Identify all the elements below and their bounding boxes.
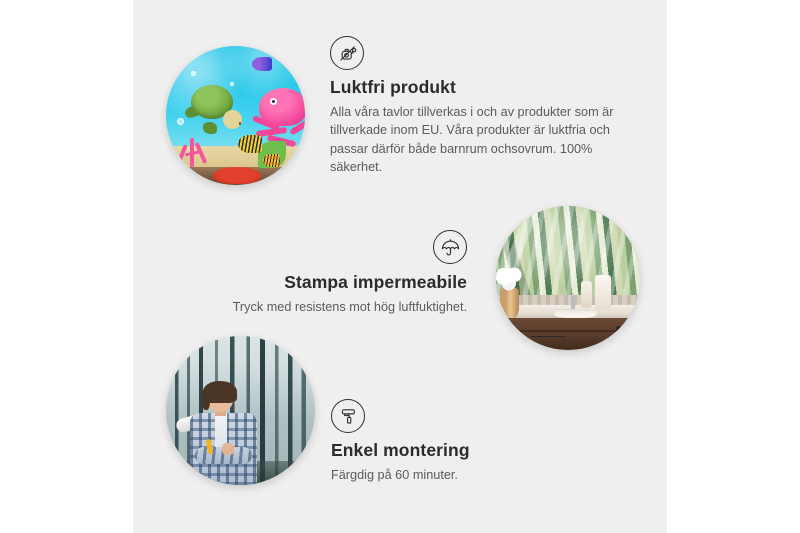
painter-forest-mural-photo [166,336,315,485]
bathroom-vanity-photo [496,206,640,350]
feature-waterproof-print: Stampa impermeabile Tryck med resistens … [170,230,467,316]
drawer-handle [531,336,565,337]
vase [500,288,519,320]
towel [581,281,593,308]
sea-turtle-icon [184,85,240,131]
sink [554,309,597,318]
icon-row [331,399,611,433]
hand [222,443,234,454]
hair-side [202,389,210,410]
feature-body: Färgdig på 60 minuter. [331,466,611,484]
crab-icon [213,167,260,184]
icon-row [170,230,467,264]
feature-odourless: Luktfri produkt Alla våra tavlor tillver… [330,36,630,177]
feature-easy-mounting: Enkel montering Färgdig på 60 minuter. [331,399,611,484]
fish-icon [238,135,262,153]
paint-roller-icon [331,399,365,433]
feature-body: Alla våra tavlor tillverkas i och av pro… [330,103,630,177]
fish-icon [263,154,280,167]
feature-title: Enkel montering [331,440,611,461]
vanity-cabinet [508,318,640,350]
painter-person [187,381,264,485]
icon-row [330,36,630,70]
no-odour-perfume-bottle-icon [330,36,364,70]
feature-title: Luktfri produkt [330,77,630,98]
feature-title: Stampa impermeabile [170,272,467,293]
door-handle [616,326,621,341]
umbrella-icon [433,230,467,264]
flowers-icon [496,266,525,292]
towel [595,275,611,310]
fish-icon [252,57,271,71]
faucet-icon [571,295,575,309]
page-root: Luktfri produkt Alla våra tavlor tillver… [0,0,800,533]
feature-body: Tryck med resistens mot hög luftfuktighe… [170,298,467,316]
underwater-cartoon-reef-photo [166,46,305,185]
coral-icon [174,131,210,167]
bubble-icon [191,71,196,76]
